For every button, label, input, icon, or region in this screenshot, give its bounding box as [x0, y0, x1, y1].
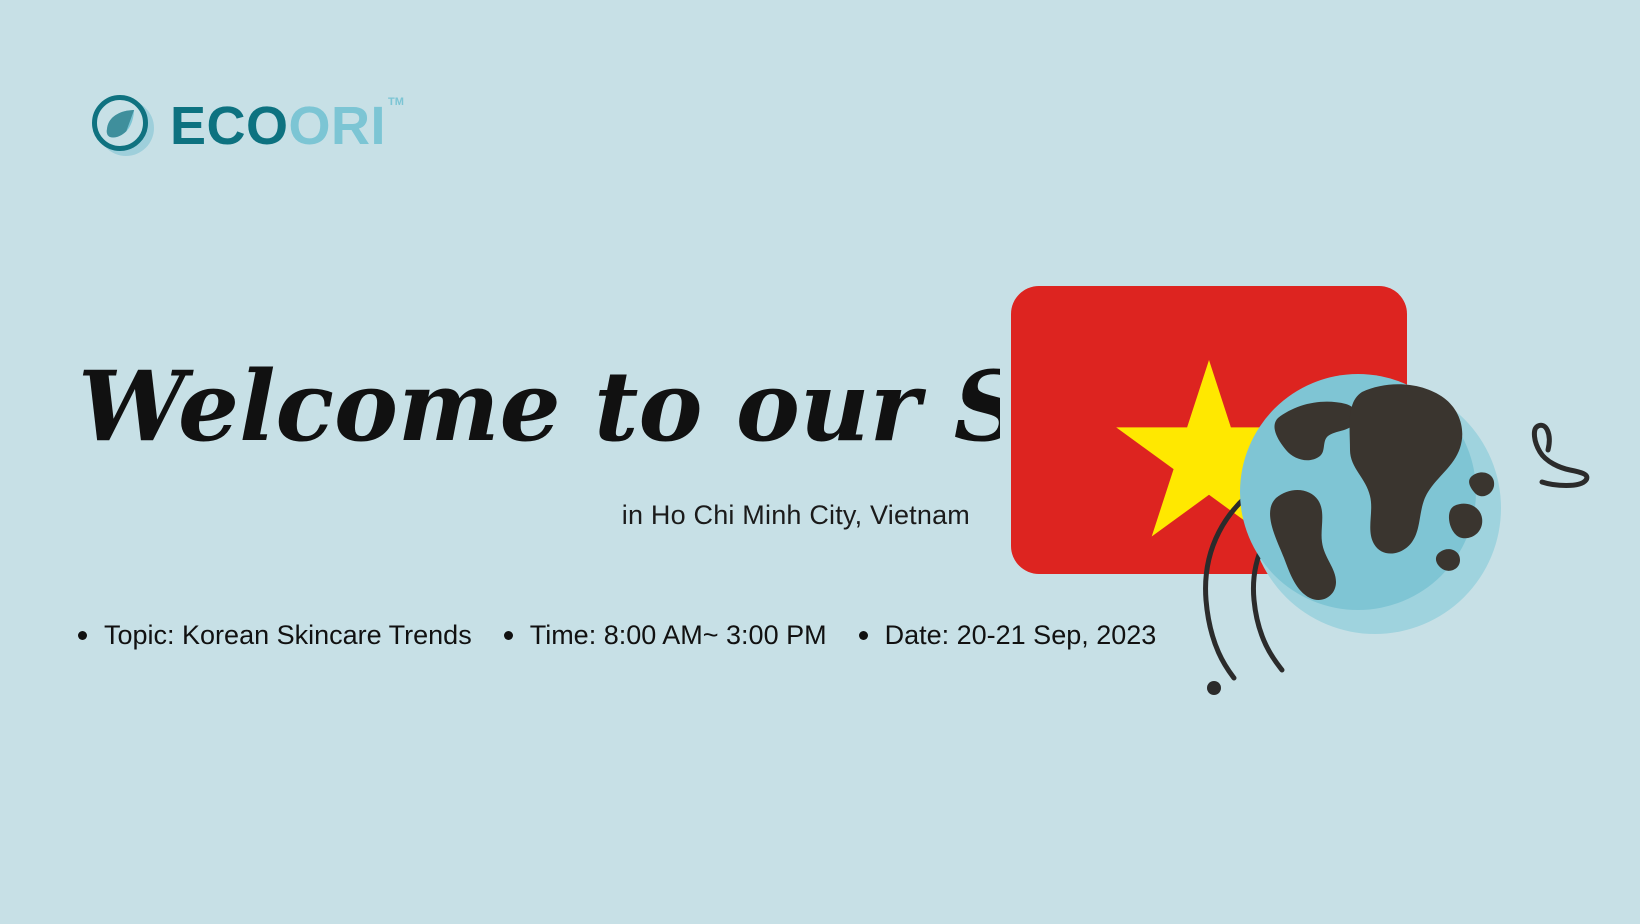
globe-artwork — [1150, 270, 1620, 700]
detail-topic-label: Topic: Korean Skincare Trends — [104, 620, 472, 651]
logo-trademark: TM — [388, 96, 404, 108]
seminar-banner: ECOORITM — [0, 0, 1640, 924]
leaf-icon — [105, 108, 136, 139]
headline-text: Welcome to our Seminar — [78, 352, 1000, 463]
detail-date-label: Date: 20-21 Sep, 2023 — [885, 620, 1157, 651]
brand-logo[interactable]: ECOORITM — [92, 94, 402, 158]
page-title: Welcome to our Seminar — [70, 352, 1000, 472]
airplane-icon — [1534, 425, 1587, 485]
detail-time-label: Time: 8:00 AM~ 3:00 PM — [530, 620, 827, 651]
detail-time: Time: 8:00 AM~ 3:00 PM — [504, 620, 827, 651]
logo-word-ori: ORI — [289, 96, 387, 156]
logo-wordmark: ECOORITM — [170, 99, 402, 153]
subtitle: in Ho Chi Minh City, Vietnam — [0, 500, 970, 531]
event-details: Topic: Korean Skincare Trends Time: 8:00… — [78, 620, 1156, 651]
leaf-in-circle-icon — [92, 95, 154, 157]
logo-word-eco: ECO — [170, 96, 289, 156]
detail-topic: Topic: Korean Skincare Trends — [78, 620, 472, 651]
bullet-dot-icon — [504, 631, 513, 640]
orbit-end-dot — [1207, 681, 1221, 695]
bullet-dot-icon — [78, 631, 87, 640]
bullet-dot-icon — [859, 631, 868, 640]
detail-date: Date: 20-21 Sep, 2023 — [859, 620, 1157, 651]
